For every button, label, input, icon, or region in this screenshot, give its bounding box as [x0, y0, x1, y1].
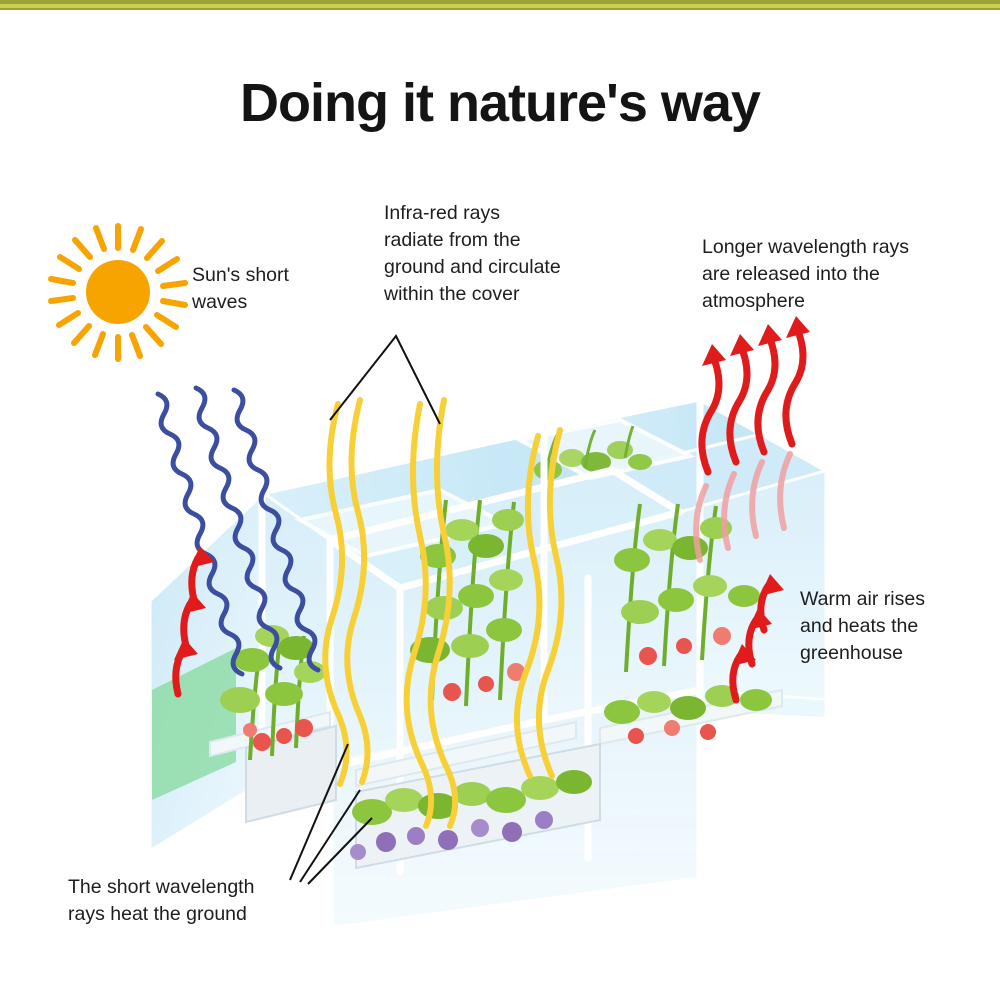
- infrared-pointer-line-icon: [330, 336, 440, 424]
- infographic-canvas: Doing it nature's way: [0, 0, 1000, 1000]
- greenhouse-structure: [148, 398, 828, 930]
- greenhouse-illustration: [0, 0, 1000, 1000]
- label-sun-short-waves: Sun's short waves: [192, 262, 352, 316]
- label-short-wavelength-heat-ground: The short wavelength rays heat the groun…: [68, 874, 308, 928]
- label-warm-air-rises: Warm air rises and heats the greenhouse: [800, 586, 960, 667]
- label-infrared-rays: Infra-red rays radiate from the ground a…: [384, 200, 599, 308]
- label-longer-wavelength-rays: Longer wavelength rays are released into…: [702, 234, 942, 315]
- sun-icon: [51, 226, 185, 359]
